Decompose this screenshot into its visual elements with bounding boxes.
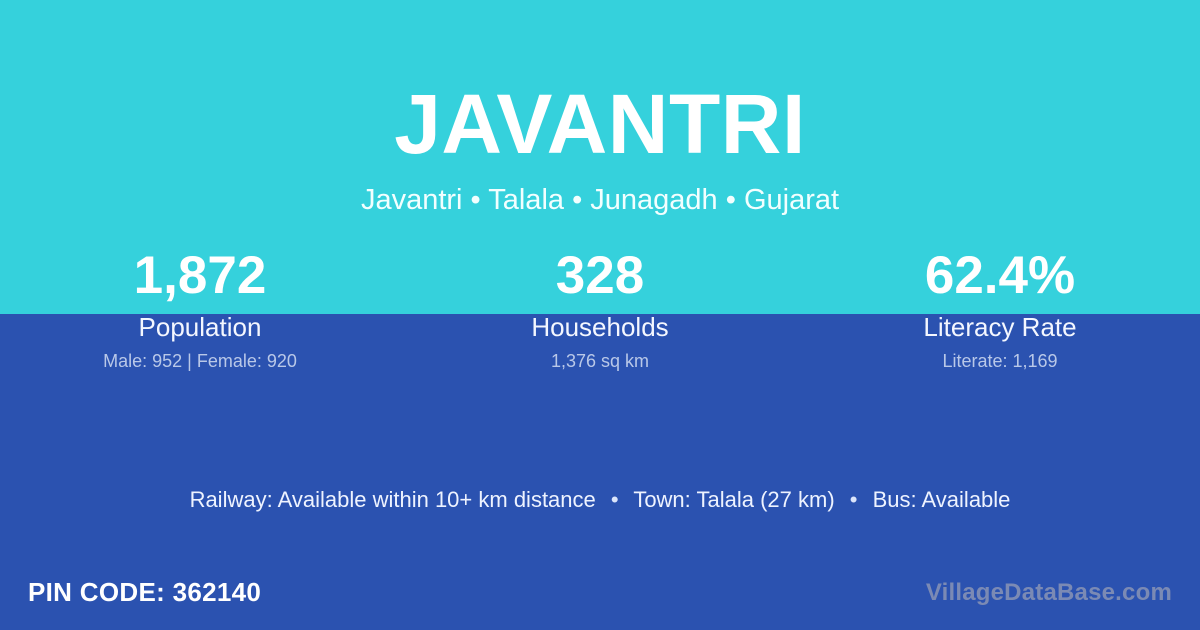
site-brand: VillageDataBase.com — [926, 578, 1172, 608]
facility-bus: Bus: Available — [873, 487, 1011, 512]
breadcrumb: Javantri • Talala • Junagadh • Gujarat — [0, 181, 1200, 219]
stat-population-label: Population — [0, 311, 400, 343]
stat-literacy-count: Literate: 1,169 — [800, 350, 1200, 372]
page-title: JAVANTRI — [0, 82, 1200, 166]
stat-population: 1,872 Population Male: 952 | Female: 920 — [0, 243, 400, 372]
stat-households-area: 1,376 sq km — [400, 350, 800, 372]
stat-literacy-value: 62.4% — [800, 243, 1200, 309]
stat-households: 328 Households 1,376 sq km — [400, 243, 800, 372]
stat-households-value: 328 — [400, 243, 800, 309]
facility-railway: Railway: Available within 10+ km distanc… — [190, 487, 596, 512]
stat-population-breakdown: Male: 952 | Female: 920 — [0, 350, 400, 372]
stat-population-value: 1,872 — [0, 243, 400, 309]
facility-separator-icon: • — [602, 487, 628, 512]
stats-row: 1,872 Population Male: 952 | Female: 920… — [0, 243, 1200, 372]
stat-literacy: 62.4% Literacy Rate Literate: 1,169 — [800, 243, 1200, 372]
facility-town: Town: Talala (27 km) — [633, 487, 834, 512]
stat-literacy-label: Literacy Rate — [800, 311, 1200, 343]
facility-separator-icon: • — [841, 487, 867, 512]
village-info-card: JAVANTRI Javantri • Talala • Junagadh • … — [0, 0, 1200, 630]
stat-households-label: Households — [400, 311, 800, 343]
pin-code: PIN CODE: 362140 — [28, 576, 261, 608]
facilities-line: Railway: Available within 10+ km distanc… — [0, 485, 1200, 515]
